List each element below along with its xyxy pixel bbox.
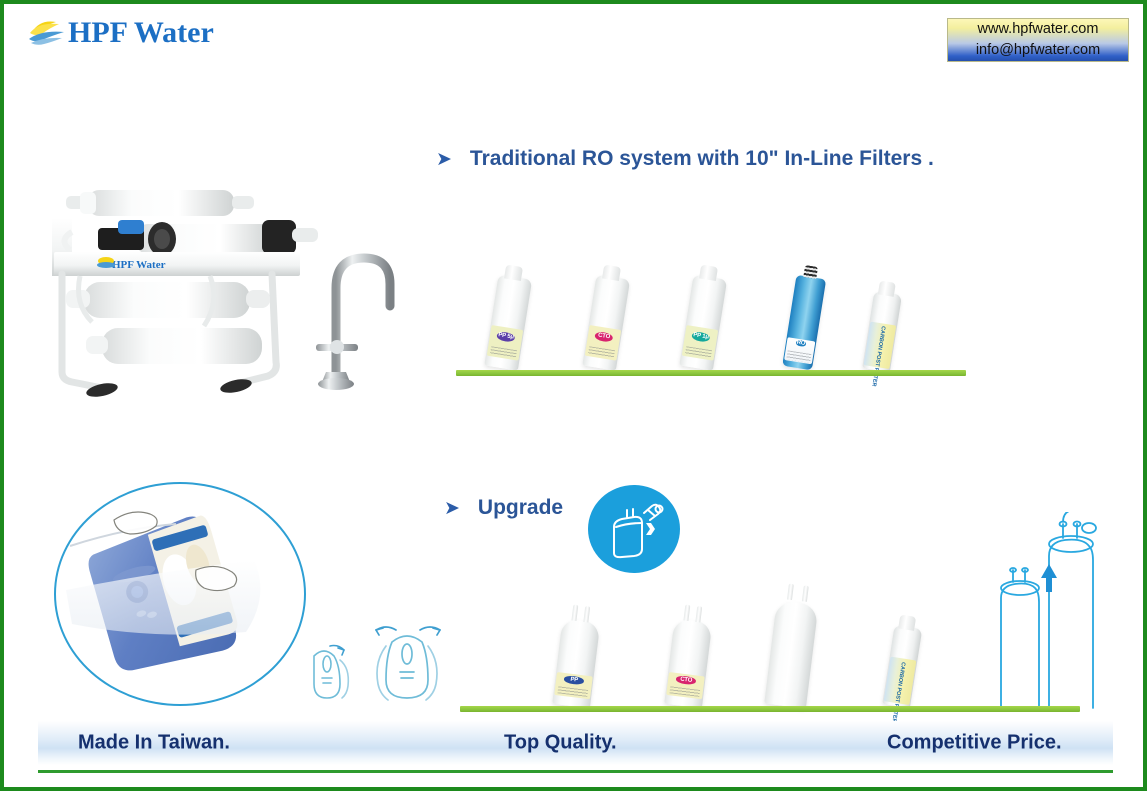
purifier-outline-small-icon xyxy=(300,634,360,706)
tagline-competitive-price: Competitive Price. xyxy=(887,732,1062,755)
footer-banner: Made In Taiwan. Top Quality. Competitive… xyxy=(38,721,1113,765)
filter-badge-label: PP 1μ xyxy=(691,331,711,343)
arrow-up-icon xyxy=(1041,564,1057,592)
filter-large-capacity xyxy=(764,600,818,708)
filter-badge-label: PP 5μ xyxy=(496,331,516,343)
filter-cto-quickconnect: CTO xyxy=(664,618,712,708)
tagline-top-quality: Top Quality. xyxy=(504,732,617,755)
filter-badge-label: RO xyxy=(796,340,806,347)
top-row-baseline xyxy=(456,370,966,376)
email-text: info@hpfwater.com xyxy=(976,40,1100,61)
quick-connect-prongs-icon xyxy=(785,581,813,602)
arrow-bullet-icon: ➤ xyxy=(436,150,452,169)
brand-name: HPF Water xyxy=(68,18,214,48)
chrome-faucet-photo xyxy=(316,258,390,390)
bottom-row-baseline xyxy=(460,706,1080,712)
brand-logo: HPF Water xyxy=(26,16,214,50)
filter-pp1: PP 1μ xyxy=(679,274,727,370)
filter-upgrade-outline-icon xyxy=(989,512,1099,712)
header: HPF Water www.hpfwater.com info@hpfwater… xyxy=(4,4,1143,72)
filter-pp5: PP 5μ xyxy=(484,274,532,370)
tagline-made-in-taiwan: Made In Taiwan. xyxy=(78,732,230,755)
contact-box[interactable]: www.hpfwater.com info@hpfwater.com xyxy=(947,18,1129,62)
footer-underline xyxy=(38,770,1113,773)
arrow-bullet-icon: ➤ xyxy=(444,499,460,518)
filter-badge-label: PP xyxy=(564,675,585,685)
filter-ro-membrane: RO xyxy=(782,275,826,371)
quick-connect-prongs-icon xyxy=(568,602,596,623)
wave-sun-logo-icon xyxy=(26,16,72,50)
svg-text:HPF Water: HPF Water xyxy=(112,259,166,271)
ro-system-photo: HPF Water xyxy=(40,176,410,404)
section-1-heading: ➤ Traditional RO system with 10" In-Line… xyxy=(436,147,934,171)
blue-water-purifier-photo xyxy=(54,482,306,706)
filter-badge-label: CTO xyxy=(676,675,697,685)
slide-frame: HPF Water www.hpfwater.com info@hpfwater… xyxy=(0,0,1147,791)
filter-pp-quickconnect: PP xyxy=(552,618,600,708)
filter-post-carbon-bottom: CARBON POST FILTER xyxy=(882,625,922,708)
filter-cto: CTO xyxy=(582,274,630,370)
filter-badge-label: CTO xyxy=(594,331,614,343)
filter-post-carbon: CARBON POST FILTER xyxy=(862,291,902,372)
website-text: www.hpfwater.com xyxy=(978,19,1099,40)
filter-connector-badge-icon xyxy=(588,485,680,573)
section-1-title: Traditional RO system with 10" In-Line F… xyxy=(470,147,934,171)
section-2-heading: ➤ Upgrade xyxy=(444,496,563,520)
quick-connect-prongs-icon xyxy=(680,602,708,623)
section-2-title: Upgrade xyxy=(478,496,563,520)
purifier-outline-large-icon xyxy=(366,616,448,708)
